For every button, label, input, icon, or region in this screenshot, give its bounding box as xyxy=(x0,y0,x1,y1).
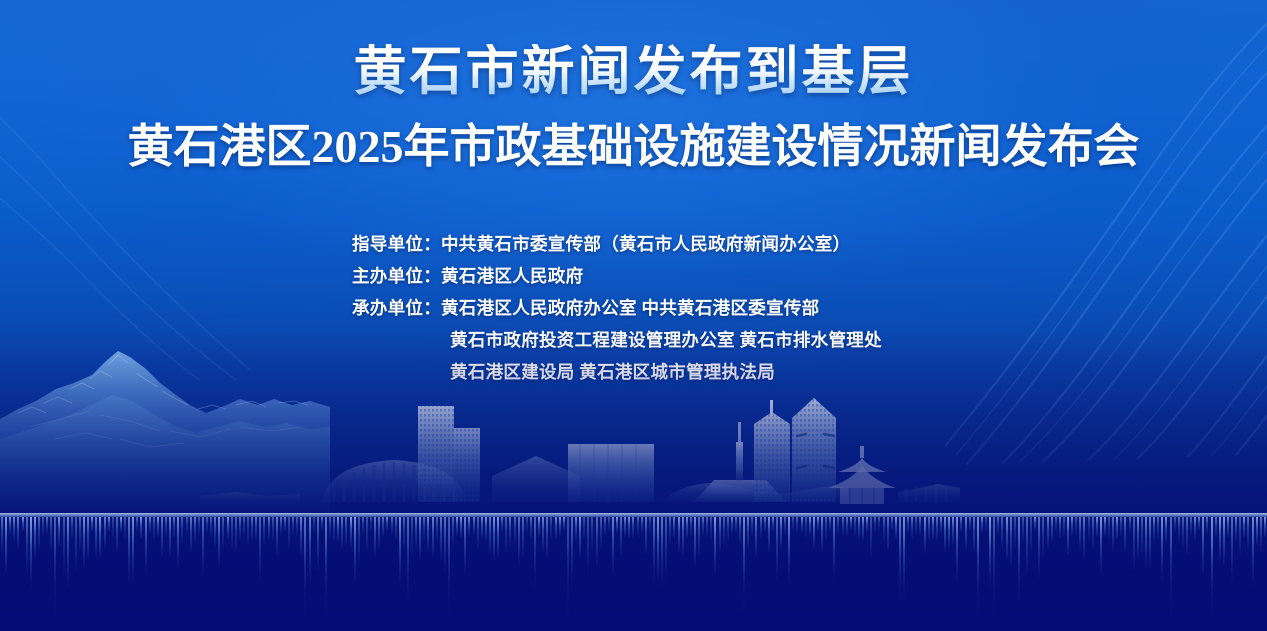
waveform-bar xyxy=(710,517,712,541)
waveform-band xyxy=(0,513,1267,631)
waveform-bar xyxy=(243,517,245,537)
waveform-bar xyxy=(210,517,212,538)
waveform-bar xyxy=(784,517,786,535)
waveform-bar xyxy=(829,517,831,533)
waveform-bar xyxy=(604,517,606,537)
waveform-bar xyxy=(263,517,265,546)
waveform-bar xyxy=(862,517,864,541)
waveform-bar xyxy=(313,517,315,534)
waveform-bar xyxy=(792,517,794,531)
waveform-bar xyxy=(805,517,807,538)
waveform-bar xyxy=(395,517,397,541)
poster-subheadline: 黄石港区2025年市政基础设施建设情况新闻发布会 xyxy=(128,122,1140,173)
waveform-bar xyxy=(382,517,384,537)
waveform-bar xyxy=(1264,517,1266,538)
waveform-bar xyxy=(1034,517,1036,531)
waveform-bar xyxy=(268,517,270,541)
waveform-bar xyxy=(1120,517,1122,537)
waveform-bar xyxy=(936,517,938,541)
waveform-bar xyxy=(1182,517,1184,547)
waveform-bar xyxy=(649,517,651,535)
waveform-bar xyxy=(1092,517,1094,549)
waveform-bar xyxy=(1235,517,1237,542)
waveform-bar xyxy=(932,517,934,540)
waveform-bar xyxy=(198,517,200,537)
waveform-bar xyxy=(669,517,671,544)
waveform-bar xyxy=(423,517,425,540)
waveform-bar xyxy=(214,517,216,547)
waveform-bar xyxy=(1096,517,1098,537)
waveform-bar xyxy=(194,517,196,542)
waveform-bar xyxy=(825,517,827,540)
waveform-bar xyxy=(538,517,540,537)
waveform-bar xyxy=(940,517,942,534)
waveform-bar xyxy=(509,517,511,547)
credit-line-organizer: 承办单位：黄石港区人民政府办公室 中共黄石港区委宣传部 xyxy=(352,292,882,324)
waveform-bar xyxy=(468,517,470,537)
waveform-bar xyxy=(296,517,298,536)
waveform-bar xyxy=(481,517,483,540)
waveform-bar xyxy=(686,517,688,539)
waveform-bar xyxy=(104,517,106,549)
waveform-bar xyxy=(165,517,167,537)
waveform-bar xyxy=(772,517,774,532)
waveform-bar xyxy=(227,517,229,541)
credits-block: 指导单位：中共黄石市委宣传部（黄石市人民政府新闻办公室） 主办单位：黄石港区人民… xyxy=(352,228,882,388)
poster-headline: 黄石市新闻发布到基层 xyxy=(354,44,914,100)
waveform-bar xyxy=(1178,517,1180,541)
waveform-bar xyxy=(866,517,868,533)
waveform-bar xyxy=(350,517,352,548)
credit-line-organizer-2: 黄石市政府投资工程建设管理办公室 黄石市排水管理处 xyxy=(352,324,882,356)
waveform-bar xyxy=(485,517,487,541)
waveform-bar xyxy=(624,517,626,537)
waveform-bar xyxy=(952,517,954,545)
waveform-bar xyxy=(140,517,142,539)
waveform-bar xyxy=(641,517,643,534)
poster-canvas: 黄石市新闻发布到基层 黄石港区2025年市政基础设施建设情况新闻发布会 指导单位… xyxy=(0,0,1267,631)
waveform-bar xyxy=(530,517,532,540)
waveform-bar xyxy=(907,517,909,533)
waveform-bar xyxy=(1108,517,1110,541)
waveform-bar xyxy=(42,517,44,536)
waveform-bar xyxy=(960,517,962,532)
waveform-bar xyxy=(1165,517,1167,543)
waveform-bar xyxy=(345,517,347,547)
waveform-bar xyxy=(1256,517,1258,546)
band-fade-overlay xyxy=(0,546,1267,631)
waveform-bar xyxy=(71,517,73,540)
waveform-bar xyxy=(895,517,897,540)
waveform-bar xyxy=(1075,517,1077,536)
waveform-bar xyxy=(981,517,983,533)
waveform-bar xyxy=(13,517,15,541)
waveform-bar xyxy=(292,517,294,535)
waveform-bar xyxy=(1116,517,1118,540)
waveform-bar xyxy=(22,517,24,532)
waveform-bar xyxy=(563,517,565,531)
subheadline-container: 黄石港区2025年市政基础设施建设情况新闻发布会 xyxy=(0,122,1267,173)
waveform-bar xyxy=(280,517,282,535)
waveform-bar xyxy=(473,517,475,536)
waveform-bar xyxy=(337,517,339,542)
waveform-bar xyxy=(386,517,388,531)
waveform-bar xyxy=(842,517,844,536)
waveform-bar xyxy=(891,517,893,531)
headline-container: 黄石市新闻发布到基层 xyxy=(0,44,1267,100)
waveform-bar xyxy=(1051,517,1053,543)
waveform-bar xyxy=(723,517,725,546)
waveform-bar xyxy=(928,517,930,541)
waveform-bar xyxy=(514,517,516,545)
waveform-bar xyxy=(735,517,737,533)
waveform-bar xyxy=(321,517,323,531)
waveform-bar xyxy=(1001,517,1003,550)
waveform-bar xyxy=(969,517,971,531)
waveform-bar xyxy=(1198,517,1200,531)
waveform-bar xyxy=(58,517,60,547)
waveform-bar xyxy=(112,517,114,539)
waveform-bar xyxy=(378,517,380,549)
waveform-bar xyxy=(333,517,335,542)
waveform-bar xyxy=(911,517,913,539)
waveform-bar xyxy=(17,517,19,549)
waveform-bar xyxy=(796,517,798,533)
waveform-bar xyxy=(136,517,138,532)
waveform-bar xyxy=(9,517,11,535)
waveform-bar xyxy=(801,517,803,533)
waveform-bar xyxy=(550,517,552,540)
waveform-bar xyxy=(760,517,762,538)
waveform-bar xyxy=(1243,517,1245,538)
waveform-bar xyxy=(284,517,286,532)
waveform-bar xyxy=(239,517,241,541)
waveform-bar xyxy=(247,517,249,545)
waveform-bar xyxy=(1055,517,1057,532)
waveform-bar xyxy=(157,517,159,537)
waveform-bar xyxy=(1014,517,1016,549)
credit-line-guidance: 指导单位：中共黄石市委宣传部（黄石市人民政府新闻办公室） xyxy=(352,228,882,260)
waveform-bar xyxy=(1059,517,1061,538)
waveform-bar xyxy=(329,517,331,539)
waveform-bar xyxy=(108,517,110,532)
waveform-bar xyxy=(813,517,815,549)
waveform-bar xyxy=(878,517,880,531)
waveform-bar xyxy=(600,517,602,548)
waveform-bar xyxy=(702,517,704,536)
waveform-bar xyxy=(985,517,987,531)
credit-line-host: 主办单位：黄石港区人民政府 xyxy=(352,260,882,292)
waveform-bar xyxy=(415,517,417,548)
waveform-bar xyxy=(739,517,741,545)
waveform-bar xyxy=(231,517,233,550)
waveform-bar xyxy=(1153,517,1155,541)
waveform-bar xyxy=(817,517,819,531)
waveform-bar xyxy=(690,517,692,536)
waveform-bar xyxy=(764,517,766,532)
waveform-bar xyxy=(272,517,274,542)
waveform-bar xyxy=(809,517,811,536)
waveform-bar xyxy=(1022,517,1024,542)
waveform-bar xyxy=(706,517,708,539)
waveform-bar xyxy=(751,517,753,536)
waveform-bar xyxy=(583,517,585,541)
waveform-bar xyxy=(1047,517,1049,549)
waveform-bar xyxy=(850,517,852,530)
waveform-bar xyxy=(915,517,917,535)
waveform-bar xyxy=(370,517,372,531)
waveform-bar xyxy=(948,517,950,548)
waveform-bar xyxy=(124,517,126,540)
waveform-bar xyxy=(46,517,48,534)
waveform-bar xyxy=(403,517,405,550)
waveform-bar xyxy=(501,517,503,533)
waveform-bar xyxy=(883,517,885,542)
waveform-bar xyxy=(456,517,458,536)
waveform-bar xyxy=(436,517,438,542)
waveform-bar xyxy=(1088,517,1090,541)
waveform-bar xyxy=(559,517,561,536)
waveform-bar xyxy=(1129,517,1131,534)
waveform-bar xyxy=(120,517,122,533)
waveform-bar xyxy=(637,517,639,535)
waveform-bar xyxy=(153,517,155,539)
waveform-bar xyxy=(1194,517,1196,541)
city-skyline-icon xyxy=(0,384,1267,519)
waveform-bar xyxy=(1190,517,1192,535)
waveform-bar xyxy=(874,517,876,532)
waveform-bar xyxy=(1227,517,1229,538)
waveform-bar xyxy=(731,517,733,534)
waveform-bar xyxy=(255,517,257,541)
waveform-bar xyxy=(477,517,479,550)
waveform-bar xyxy=(919,517,921,536)
waveform-bar xyxy=(1174,517,1176,532)
waveform-bar xyxy=(727,517,729,542)
waveform-bar xyxy=(846,517,848,536)
waveform-bar xyxy=(181,517,183,544)
waveform-bar xyxy=(91,517,93,532)
waveform-bar xyxy=(1063,517,1065,537)
waveform-bar xyxy=(997,517,999,536)
waveform-bar xyxy=(858,517,860,540)
waveform-bar xyxy=(206,517,208,533)
waveform-bar xyxy=(1071,517,1073,536)
waveform-bar xyxy=(628,517,630,538)
waveform-bar xyxy=(608,517,610,533)
waveform-bar xyxy=(452,517,454,546)
waveform-bar xyxy=(1157,517,1159,540)
waveform-bar xyxy=(149,517,151,534)
waveform-bar xyxy=(632,517,634,538)
waveform-bar xyxy=(673,517,675,539)
waveform-bar xyxy=(854,517,856,537)
waveform-bar xyxy=(555,517,557,540)
waveform-bar xyxy=(1206,517,1208,534)
waveform-bar xyxy=(186,517,188,535)
waveform-bar xyxy=(460,517,462,538)
waveform-bar xyxy=(173,517,175,538)
waveform-bar xyxy=(837,517,839,536)
waveform-bar xyxy=(526,517,528,533)
waveform-bar xyxy=(1215,517,1217,538)
waveform-bar xyxy=(391,517,393,535)
waveform-bar xyxy=(1104,517,1106,537)
waveform-bar xyxy=(362,517,364,535)
waveform-bar xyxy=(575,517,577,541)
waveform-bar xyxy=(616,517,618,533)
waveform-bar xyxy=(251,517,253,542)
